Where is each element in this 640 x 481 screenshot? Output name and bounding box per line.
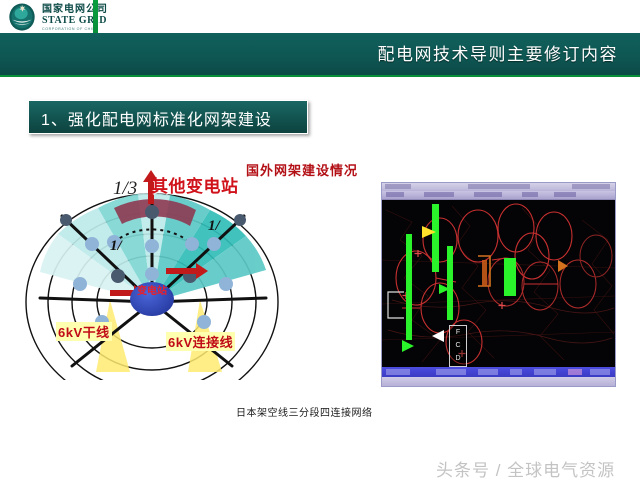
menubar-item[interactable]	[474, 192, 502, 197]
other-substation-label: 其他变电站	[151, 172, 239, 197]
titlebar-segment	[385, 184, 411, 189]
section-title: 1、强化配电网标准化网架建设	[41, 106, 272, 130]
fcd-letter-c: C	[450, 339, 466, 352]
green-accent-bar	[93, 0, 98, 33]
logo-sub-name: CORPORATION OF CHINA	[42, 26, 162, 32]
section-title-plate: 1、强化配电网标准化网架建设	[28, 100, 308, 134]
panel-titlebar	[382, 183, 615, 191]
menubar-item[interactable]	[522, 192, 538, 197]
statusbar-cell	[568, 369, 582, 375]
fcd-marker-box: F C D	[449, 325, 467, 367]
state-grid-emblem-icon	[8, 3, 36, 31]
fraction-one-third-label: 1/3	[113, 178, 137, 200]
panel-menubar[interactable]	[382, 191, 615, 200]
right-panel-title: 国外网架建设情况	[246, 160, 358, 179]
trunk-line-label: 6kV干线	[56, 322, 112, 341]
logo-en-name: STATE GRID	[42, 15, 162, 26]
figure-caption: 日本架空线三分段四连接网络	[236, 404, 373, 419]
fraction-label-b: 1/	[208, 218, 220, 235]
menubar-item[interactable]	[554, 192, 576, 197]
fcd-letter-f: F	[450, 326, 466, 339]
link-line-label: 6kV连接线	[166, 332, 235, 351]
statusbar-cell	[534, 369, 556, 375]
substation-center-node: 变电站	[130, 282, 174, 316]
logo-cn-name: 国家电网公司	[42, 4, 162, 15]
statusbar-cell	[386, 369, 410, 375]
statusbar-cell	[478, 369, 498, 375]
distribution-network-diagram: 1/3 其他变电站 1/ 1/ 变电站 6kV干线 6kV连接线	[18, 150, 318, 380]
logo-text: 国家电网公司 STATE GRID CORPORATION OF CHINA	[42, 4, 162, 32]
titlebar-segment	[468, 184, 530, 189]
panel-statusbar	[382, 367, 615, 377]
statusbar-cell	[510, 369, 522, 375]
statusbar-cell	[590, 369, 610, 375]
titlebar-segment	[572, 184, 610, 189]
statusbar-cell	[436, 369, 466, 375]
scada-screenshot-panel: F C D	[381, 182, 616, 387]
substation-center-label: 变电站	[136, 286, 168, 298]
fcd-letter-d: D	[450, 352, 466, 365]
header-band: 配电网技术导则主要修订内容	[0, 33, 640, 77]
scada-canvas-svg	[382, 200, 615, 367]
watermark: 头条号 / 全球电气资源	[436, 456, 615, 481]
fraction-label-a: 1/	[110, 238, 122, 255]
menubar-item[interactable]	[424, 192, 454, 197]
panel-footer	[382, 377, 615, 386]
page-title: 配电网技术导则主要修订内容	[378, 40, 619, 65]
menubar-item[interactable]	[386, 192, 404, 197]
scada-canvas: F C D	[382, 200, 615, 367]
